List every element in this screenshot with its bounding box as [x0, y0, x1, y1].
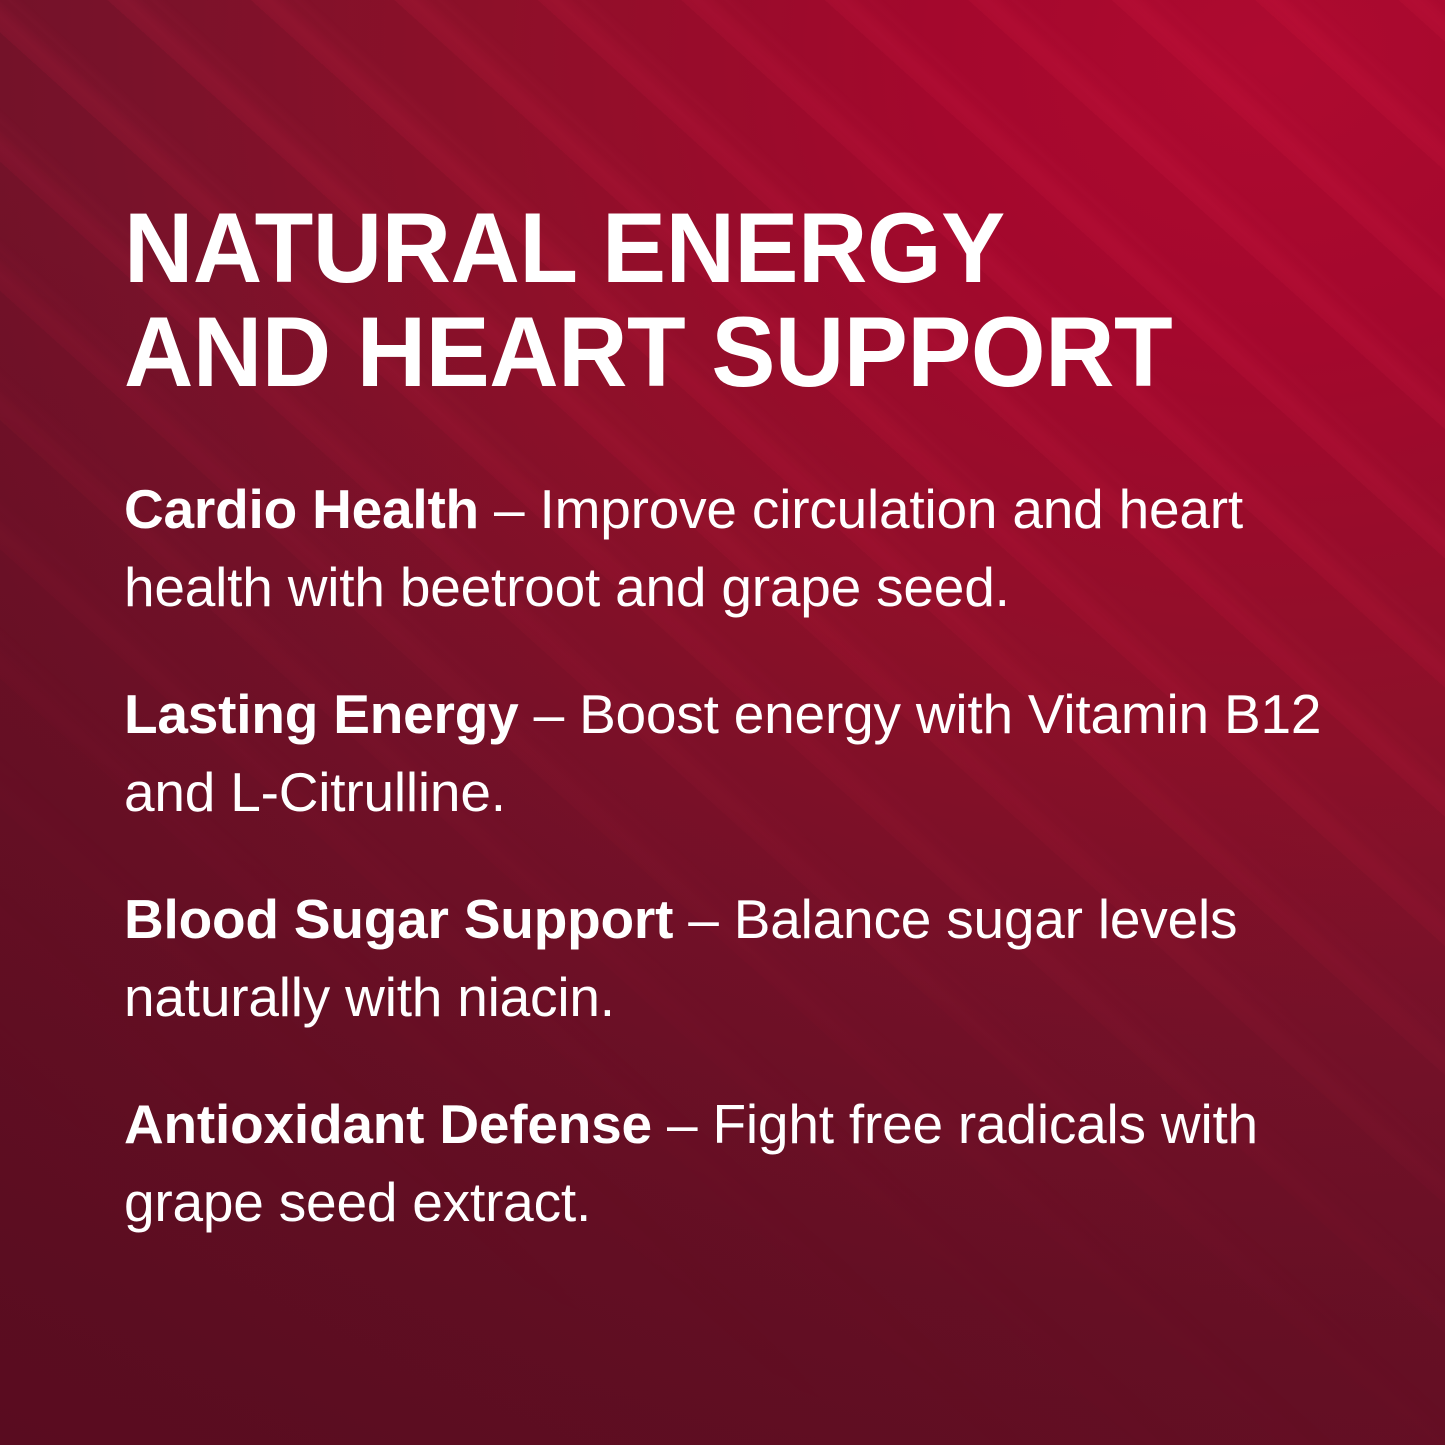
benefit-separator: –	[673, 888, 734, 950]
benefit-lead-label: Blood Sugar Support	[124, 888, 673, 950]
benefit-item-blood-sugar-support: Blood Sugar Support – Balance sugar leve…	[124, 880, 1339, 1036]
benefit-separator: –	[519, 683, 580, 745]
headline-line-1: NATURAL ENERGY	[124, 196, 1307, 300]
benefit-lead-label: Antioxidant Defense	[124, 1093, 652, 1155]
benefit-separator: –	[652, 1093, 713, 1155]
benefit-separator: –	[479, 478, 540, 540]
promo-graphic: NATURAL ENERGY AND HEART SUPPORT Cardio …	[0, 0, 1445, 1445]
page-title: NATURAL ENERGY AND HEART SUPPORT	[124, 196, 1307, 404]
benefit-lead-label: Cardio Health	[124, 478, 479, 540]
benefit-item-antioxidant-defense: Antioxidant Defense – Fight free radical…	[124, 1085, 1339, 1241]
benefit-item-cardio-health: Cardio Health – Improve circulation and …	[124, 470, 1339, 626]
benefit-item-lasting-energy: Lasting Energy – Boost energy with Vitam…	[124, 675, 1339, 831]
benefit-lead-label: Lasting Energy	[124, 683, 519, 745]
content-container: NATURAL ENERGY AND HEART SUPPORT Cardio …	[124, 0, 1339, 1445]
benefit-list: Cardio Health – Improve circulation and …	[124, 470, 1339, 1241]
headline-line-2: AND HEART SUPPORT	[124, 300, 1307, 404]
